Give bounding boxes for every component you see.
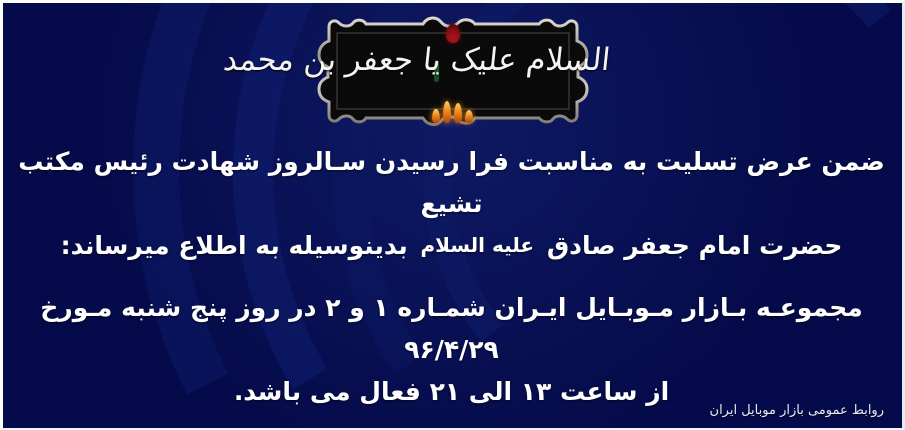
paragraph-1-line-2: حضرت امام جعفر صادق علیه السلام بدینوسیل… bbox=[17, 225, 886, 267]
footer-credit: روابط عمومی بازار موبایل ایران bbox=[710, 403, 884, 418]
paragraph-1-line-2-after: بدینوسیله به اطلاع میرساند: bbox=[61, 231, 408, 260]
paragraph-2-line-1: مجموعـه بـازار مـوبـایل ایـران شمـاره ۱ … bbox=[17, 287, 886, 371]
announcement-body: ضمن عرض تسلیت به مناسبت فرا رسیدن سـالرو… bbox=[17, 141, 886, 413]
announcement-paragraph-1: ضمن عرض تسلیت به مناسبت فرا رسیدن سـالرو… bbox=[17, 141, 886, 267]
paragraph-1-line-1: ضمن عرض تسلیت به مناسبت فرا رسیدن سـالرو… bbox=[17, 141, 886, 225]
announcement-poster: السلام علیک یا جعفر بن محمد ضمن عرض تسلی… bbox=[0, 0, 905, 430]
calligraphy-plaque: السلام علیک یا جعفر بن محمد bbox=[295, 15, 610, 127]
announcement-paragraph-2: مجموعـه بـازار مـوبـایل ایـران شمـاره ۱ … bbox=[17, 287, 886, 413]
paragraph-1-line-2-before: حضرت امام جعفر صادق bbox=[547, 231, 843, 260]
banner-calligraphy-text: السلام علیک یا جعفر بن محمد bbox=[293, 45, 611, 76]
tulip-icon bbox=[446, 24, 460, 43]
banner: السلام علیک یا جعفر بن محمد bbox=[3, 15, 902, 127]
honorific-alayhis-salam: علیه السلام bbox=[416, 229, 538, 263]
candle-flame-icon bbox=[431, 97, 475, 123]
